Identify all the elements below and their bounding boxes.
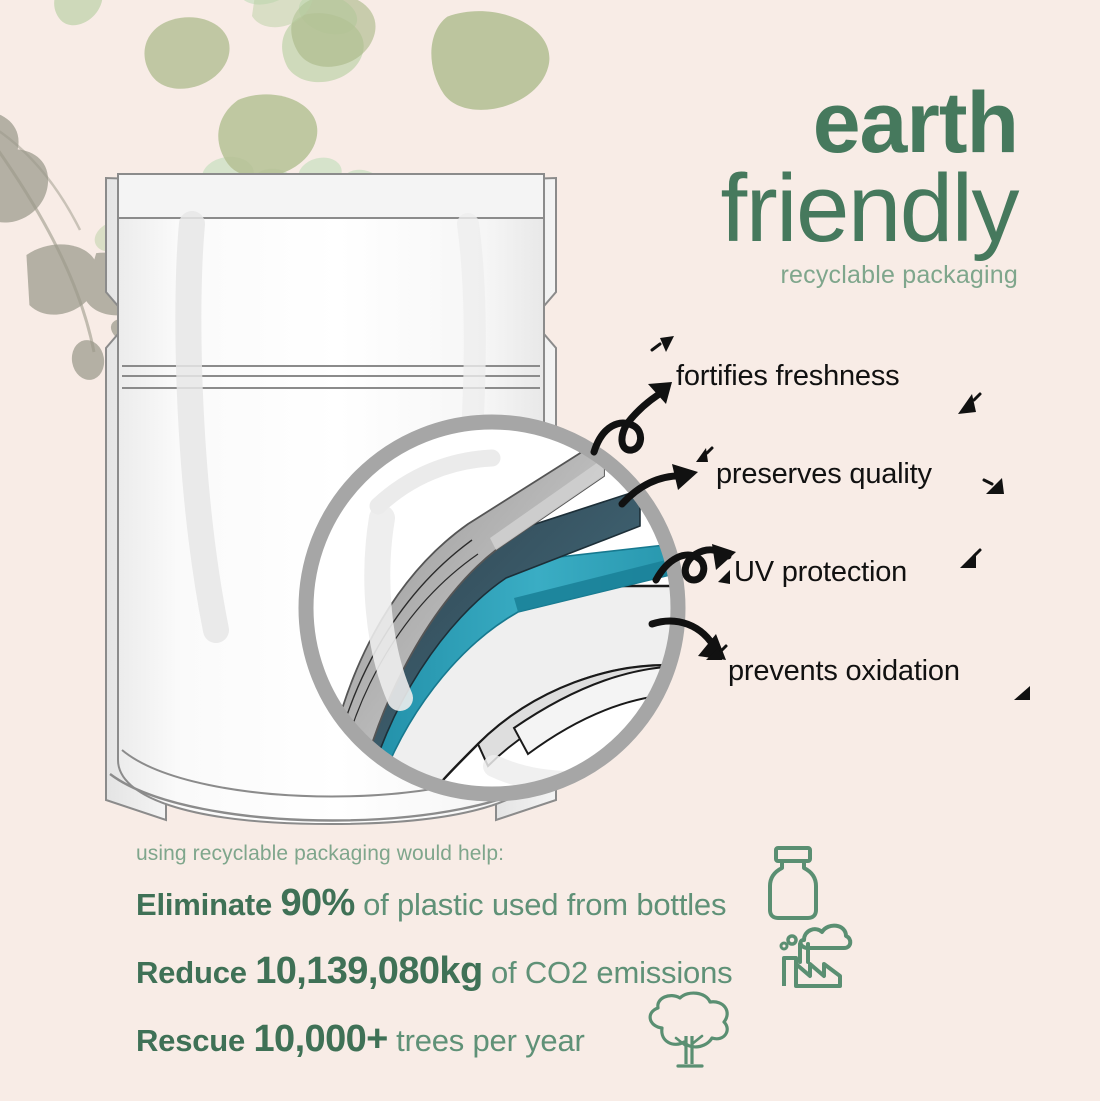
tree-icon	[640, 992, 736, 1072]
sparkle-icon	[648, 334, 682, 368]
feature-label-preserves-quality: preserves quality	[716, 458, 932, 491]
stat-row: Reduce 10,139,080kg of CO2 emissions	[136, 950, 732, 993]
bottle-icon	[762, 846, 824, 920]
feature-label-fortifies-freshness: fortifies freshness	[676, 360, 899, 393]
page-title-line2: friendly	[458, 161, 1018, 257]
stat-tail: trees per year	[396, 1023, 584, 1058]
sparkle-icon	[702, 640, 732, 670]
stat-value: 10,000+	[254, 1018, 388, 1060]
sparkle-icon	[952, 388, 986, 422]
feature-label-prevents-oxidation: prevents oxidation	[728, 655, 960, 688]
stat-row: Rescue 10,000+ trees per year	[136, 1018, 585, 1061]
stat-value: 10,139,080kg	[255, 950, 482, 992]
infographic-canvas: fortifies freshness preserves quality UV…	[0, 0, 1100, 1101]
sparkle-icon	[952, 546, 986, 580]
top-center-leaf-decoration	[250, 0, 470, 90]
feature-label-uv-protection: UV protection	[734, 556, 907, 589]
factory-icon	[778, 918, 856, 990]
stat-tail: of CO2 emissions	[491, 955, 732, 990]
sparkle-icon	[714, 566, 740, 592]
stat-value: 90%	[280, 882, 354, 924]
stat-verb: Eliminate	[136, 887, 272, 922]
stat-verb: Reduce	[136, 955, 247, 990]
stat-tail: of plastic used from bottles	[363, 887, 726, 922]
sparkle-icon	[980, 470, 1012, 502]
page-subtitle: recyclable packaging	[458, 261, 1018, 290]
headline-block: earth friendly recyclable packaging	[458, 82, 1018, 290]
stat-row: Eliminate 90% of plastic used from bottl…	[136, 882, 726, 925]
sparkle-icon	[1008, 678, 1038, 708]
stat-verb: Rescue	[136, 1023, 245, 1058]
stats-intro-text: using recyclable packaging would help:	[136, 842, 504, 866]
page-title-line1: earth	[458, 82, 1018, 165]
sparkle-icon	[690, 444, 718, 472]
